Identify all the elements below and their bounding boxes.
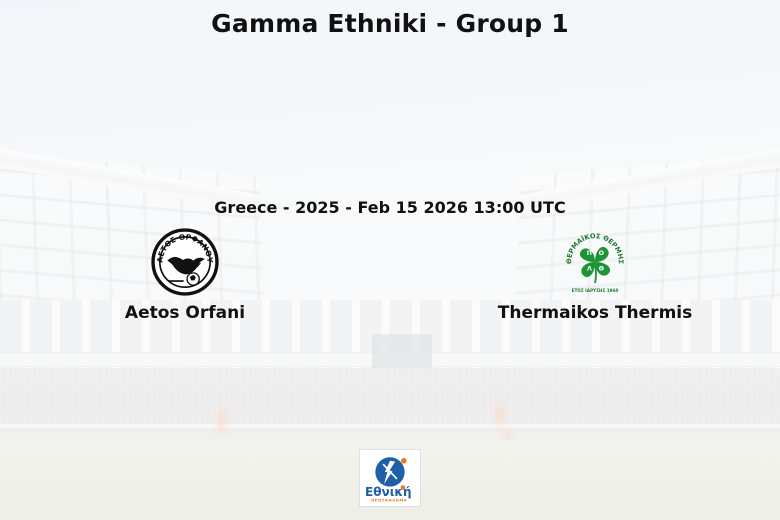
svg-text:ΕΤΟΣ ΙΔΡΥΣΗΣ 1960: ΕΤΟΣ ΙΔΡΥΣΗΣ 1960 [572, 288, 619, 293]
away-team-name: Thermaikos Thermis [445, 303, 745, 323]
match-preview-card: Gamma Ethniki - Group 1 Greece - 2025 - … [0, 0, 780, 520]
svg-text:Θ: Θ [599, 265, 605, 272]
away-team-crest: ΘΕΡΜΑΪΚΟΣ ΘΕΡΜΗΣ Π Ο Λ Θ ΕΤΟΣ ΙΔΡΥΣΗΣ 19… [445, 228, 745, 296]
home-team-name: Aetos Orfani [35, 303, 335, 323]
svg-text:Ο: Ο [599, 250, 605, 257]
home-team-crest: ΑΕΤΟΣ ΟΡΦΑΝΟΥ [35, 228, 335, 296]
svg-text:ΠΡΩΤΑΘΛΗΜΑ: ΠΡΩΤΑΘΛΗΜΑ [371, 497, 407, 502]
league-logo: Εθνική ΠΡΩΤΑΘΛΗΜΑ [360, 450, 420, 506]
home-team-block: ΑΕΤΟΣ ΟΡΦΑΝΟΥ Aetos Orfani [35, 228, 335, 323]
svg-text:Λ: Λ [587, 265, 592, 272]
ethniki-league-logo-icon: Εθνική ΠΡΩΤΑΘΛΗΜΑ [364, 453, 416, 503]
aetos-orfani-crest-icon: ΑΕΤΟΣ ΟΡΦΑΝΟΥ [151, 228, 219, 296]
away-team-block: ΘΕΡΜΑΪΚΟΣ ΘΕΡΜΗΣ Π Ο Λ Θ ΕΤΟΣ ΙΔΡΥΣΗΣ 19… [445, 228, 745, 323]
page-title: Gamma Ethniki - Group 1 [0, 9, 780, 38]
thermaikos-thermis-crest-icon: ΘΕΡΜΑΪΚΟΣ ΘΕΡΜΗΣ Π Ο Λ Θ ΕΤΟΣ ΙΔΡΥΣΗΣ 19… [560, 227, 630, 297]
svg-text:ΘΕΡΜΑΪΚΟΣ ΘΕΡΜΗΣ: ΘΕΡΜΑΪΚΟΣ ΘΕΡΜΗΣ [565, 232, 625, 265]
svg-text:Π: Π [587, 250, 592, 257]
match-info-line: Greece - 2025 - Feb 15 2026 13:00 UTC [0, 198, 780, 217]
